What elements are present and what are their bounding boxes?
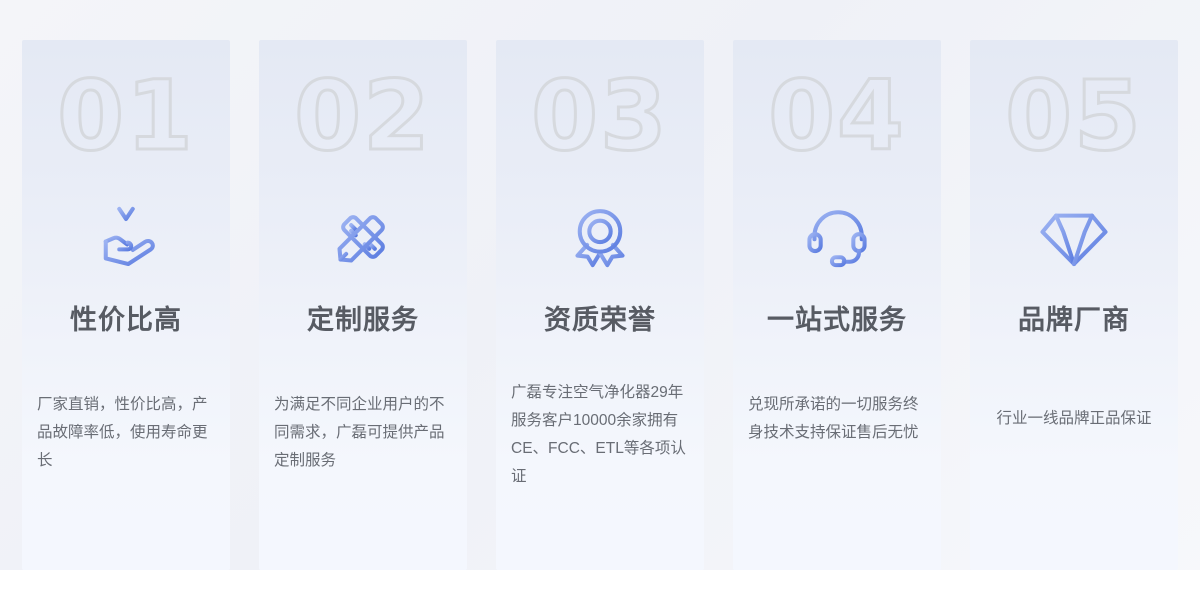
feature-card-content: 03	[496, 40, 704, 570]
hand-holding-yuan-icon	[87, 198, 165, 276]
feature-card-content: 05	[970, 40, 1178, 570]
card-index-number: 01	[57, 68, 195, 164]
card-title: 定制服务	[307, 298, 419, 337]
feature-highlights-section: 01	[0, 0, 1200, 600]
card-title: 性价比高	[70, 298, 182, 337]
diamond-icon	[1035, 198, 1113, 276]
feature-card[interactable]: 04	[733, 40, 941, 570]
feature-card-list: 01	[0, 40, 1200, 570]
card-description: 行业一线品牌正品保证	[985, 405, 1163, 433]
card-description: 厂家直销，性价比高，产品故障率低，使用寿命更长	[37, 391, 215, 475]
feature-card[interactable]: 03	[496, 40, 704, 570]
pencil-ruler-icon	[324, 198, 402, 276]
feature-card[interactable]: 01	[22, 40, 230, 570]
card-title: 品牌厂商	[1018, 298, 1130, 337]
card-title: 资质荣誉	[544, 298, 656, 337]
feature-card[interactable]: 02	[259, 40, 467, 570]
headset-icon	[798, 198, 876, 276]
card-index-number: 03	[531, 68, 669, 164]
feature-card-content: 02	[259, 40, 467, 570]
feature-card[interactable]: 05	[970, 40, 1178, 570]
feature-card-content: 04	[733, 40, 941, 570]
card-description: 广磊专注空气净化器29年服务客户10000余家拥有CE、FCC、ETL等各项认证	[511, 379, 689, 491]
card-index-number: 05	[1005, 68, 1143, 164]
card-title: 一站式服务	[767, 298, 907, 337]
card-index-number: 02	[294, 68, 432, 164]
feature-card-content: 01	[22, 40, 230, 570]
card-description: 为满足不同企业用户的不同需求，广磊可提供产品定制服务	[274, 391, 452, 475]
card-description: 兑现所承诺的一切服务终身技术支持保证售后无忧	[748, 391, 926, 447]
award-ribbon-icon	[561, 198, 639, 276]
card-index-number: 04	[768, 68, 906, 164]
